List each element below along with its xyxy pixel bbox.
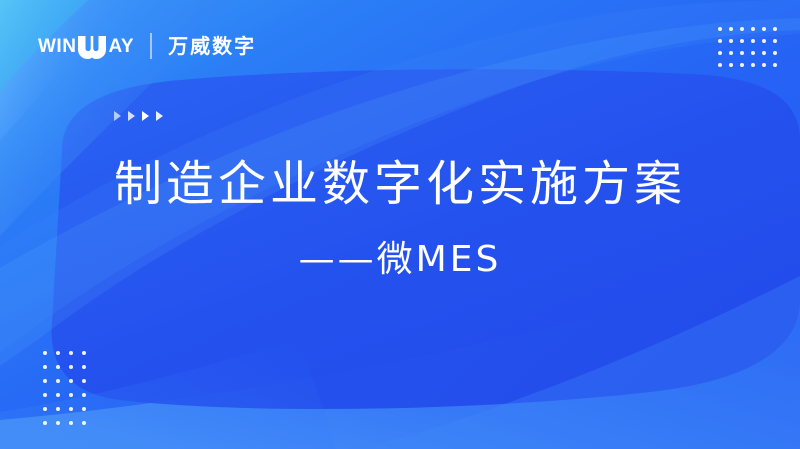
grid-dot xyxy=(69,365,73,369)
grid-dot xyxy=(740,39,744,43)
dot-grid-top-right xyxy=(718,27,784,75)
grid-dot xyxy=(43,365,47,369)
grid-dot xyxy=(69,351,73,355)
grid-dot xyxy=(82,393,86,397)
arrow-marker-4 xyxy=(156,111,163,121)
grid-dot xyxy=(751,63,755,67)
slide-subtitle: ——微MES xyxy=(0,238,800,281)
stylized-w-icon xyxy=(77,35,107,60)
grid-dot xyxy=(43,421,47,425)
grid-dot xyxy=(82,379,86,383)
grid-dot xyxy=(56,407,60,411)
arrow-marker-1 xyxy=(114,111,121,121)
grid-dot xyxy=(43,407,47,411)
grid-dot xyxy=(718,39,722,43)
grid-dot xyxy=(751,27,755,31)
logo-text-win: WIN xyxy=(38,37,76,56)
logo-text-ay: AY xyxy=(108,37,134,56)
arrow-marker-2 xyxy=(128,111,135,121)
grid-dot xyxy=(43,351,47,355)
grid-dot xyxy=(762,39,766,43)
grid-dot xyxy=(773,63,777,67)
grid-dot xyxy=(69,379,73,383)
grid-dot xyxy=(740,63,744,67)
grid-dot xyxy=(69,421,73,425)
logo-wordmark: WIN AY xyxy=(38,31,134,61)
grid-dot xyxy=(82,365,86,369)
grid-dot xyxy=(729,63,733,67)
grid-dot xyxy=(762,63,766,67)
grid-dot xyxy=(740,27,744,31)
grid-dot xyxy=(729,39,733,43)
grid-dot xyxy=(69,407,73,411)
logo-divider xyxy=(150,33,152,59)
grid-dot xyxy=(56,351,60,355)
grid-dot xyxy=(718,63,722,67)
grid-dot xyxy=(82,421,86,425)
grid-dot xyxy=(69,393,73,397)
grid-dot xyxy=(762,51,766,55)
grid-dot xyxy=(56,421,60,425)
dot-grid-bottom-left xyxy=(43,351,95,435)
grid-dot xyxy=(729,51,733,55)
grid-dot xyxy=(56,365,60,369)
grid-dot xyxy=(82,351,86,355)
brand-logo: WIN AY 万威数字 xyxy=(38,28,256,64)
grid-dot xyxy=(773,39,777,43)
grid-dot xyxy=(718,51,722,55)
grid-dot xyxy=(773,51,777,55)
grid-dot xyxy=(729,27,733,31)
grid-dot xyxy=(43,393,47,397)
company-name-cn: 万威数字 xyxy=(168,36,256,56)
grid-dot xyxy=(751,39,755,43)
grid-dot xyxy=(56,379,60,383)
grid-dot xyxy=(82,407,86,411)
grid-dot xyxy=(740,51,744,55)
grid-dot xyxy=(718,27,722,31)
background-artwork xyxy=(0,0,800,449)
presentation-slide: WIN AY 万威数字 制造企业数字化实施方案 ——微MES xyxy=(0,0,800,449)
arrow-marker-3 xyxy=(142,111,149,121)
arrow-marker-group xyxy=(114,111,163,121)
grid-dot xyxy=(56,393,60,397)
slide-title: 制造企业数字化实施方案 xyxy=(0,156,800,214)
grid-dot xyxy=(751,51,755,55)
grid-dot xyxy=(773,27,777,31)
grid-dot xyxy=(762,27,766,31)
grid-dot xyxy=(43,379,47,383)
